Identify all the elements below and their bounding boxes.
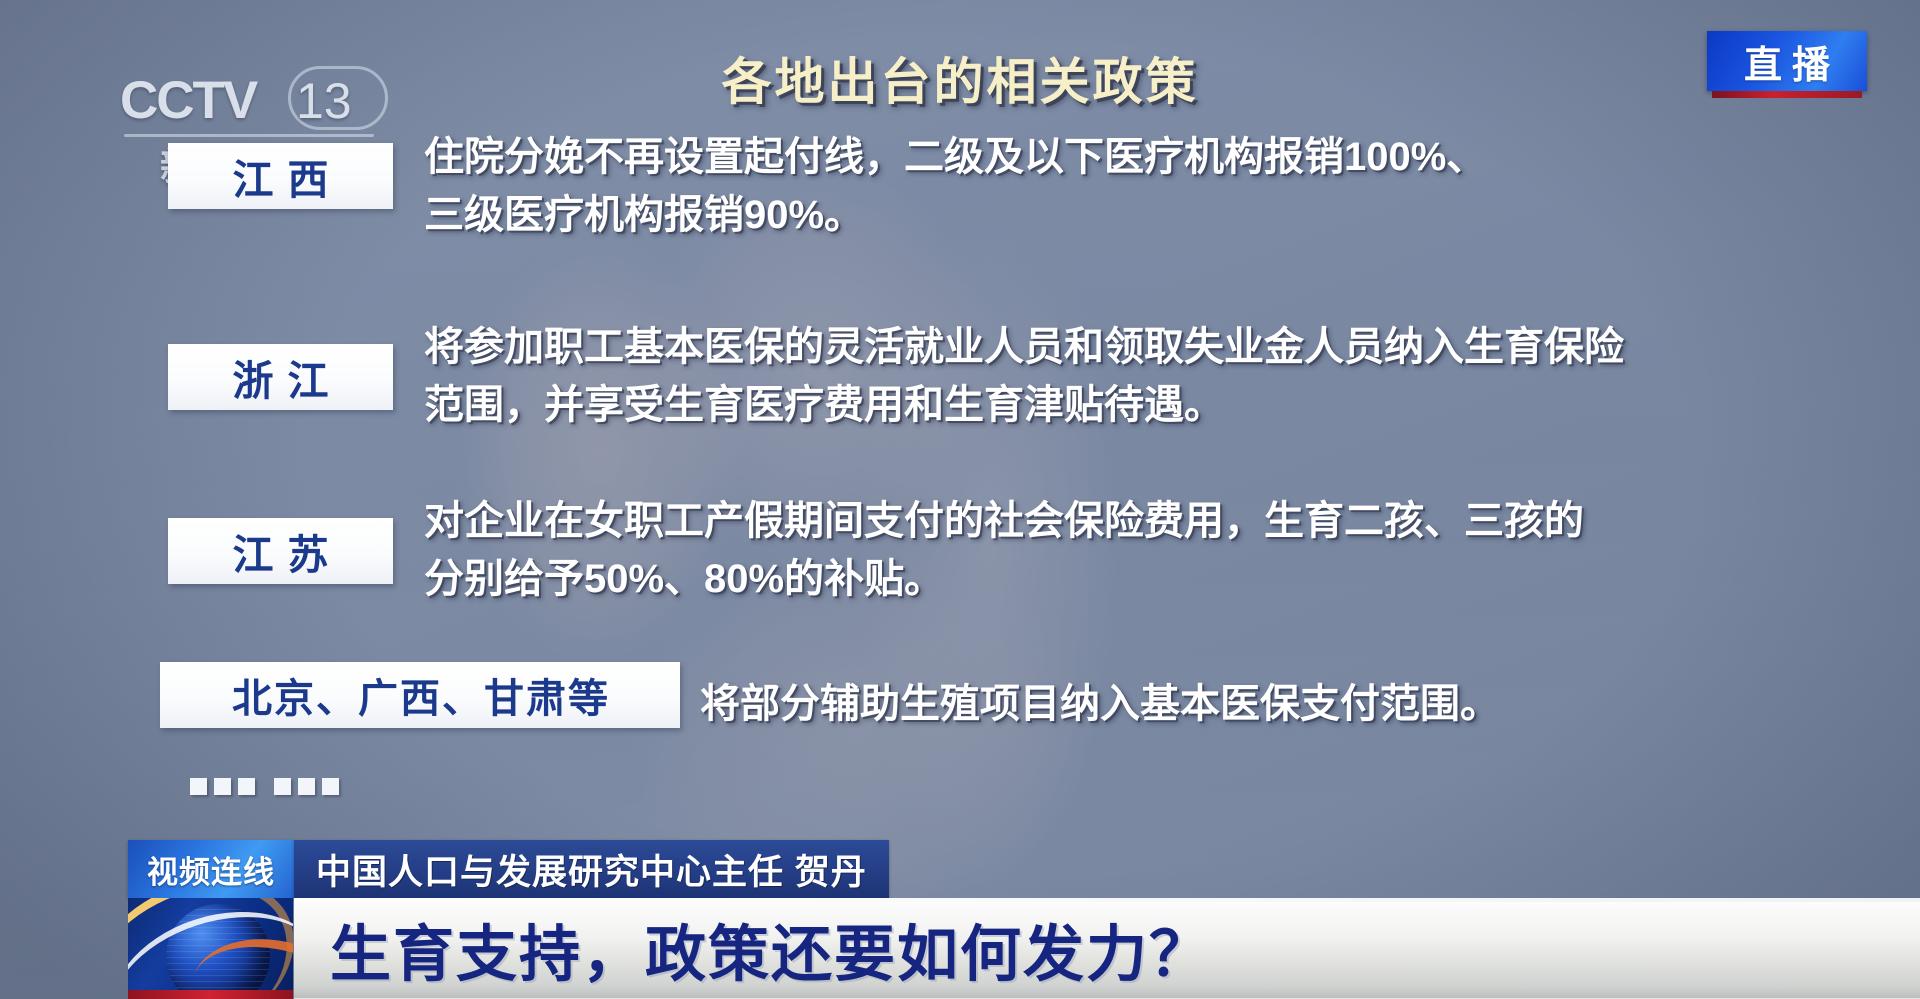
policy-line: 分别给予50%、80%的补贴。 xyxy=(424,550,1584,608)
headline-bar-top-edge xyxy=(294,898,1920,902)
guest-name-label: 中国人口与发展研究中心主任 贺丹 xyxy=(316,844,867,895)
ellipsis-dot xyxy=(274,778,291,795)
province-tag-others: 北京、广西、甘肃等 xyxy=(160,662,680,728)
cctv-news-globe-logo xyxy=(128,898,293,999)
province-tag-label: 北京、广西、甘肃等 xyxy=(230,666,610,724)
video-link-label: 视频连线 xyxy=(147,847,275,892)
province-tag-jiangsu: 江苏 xyxy=(168,518,393,584)
headline-bar: 生育支持，政策还要如何发力？ xyxy=(294,898,1920,999)
policy-line: 范围，并享受生育医疗费用和生育津贴待遇。 xyxy=(424,376,1624,434)
policy-line: 将参加职工基本医保的灵活就业人员和领取失业金人员纳入生育保险 xyxy=(424,318,1624,376)
ellipsis-marker xyxy=(190,778,339,795)
province-tag-jiangxi: 江西 xyxy=(168,143,393,209)
province-tag-zhejiang: 浙江 xyxy=(168,344,393,410)
ellipsis-dot xyxy=(238,778,255,795)
video-link-badge: 视频连线 xyxy=(128,840,294,898)
ellipsis-dot xyxy=(190,778,207,795)
policy-line: 三级医疗机构报销90%。 xyxy=(424,186,1486,244)
broadcast-screen: CCTV 13 新闻 直播 各地出台的相关政策 江西 住院分娩不再设置起付线，二… xyxy=(0,0,1920,999)
headline-text: 生育支持，政策还要如何发力？ xyxy=(330,904,1212,993)
policy-line: 住院分娩不再设置起付线，二级及以下医疗机构报销100%、 xyxy=(424,128,1486,186)
ellipsis-dot xyxy=(322,778,339,795)
province-tag-label: 江苏 xyxy=(219,521,343,581)
policy-text-jiangsu: 对企业在女职工产假期间支付的社会保险费用，生育二孩、三孩的 分别给予50%、80… xyxy=(424,492,1584,608)
policy-text-others: 将部分辅助生殖项目纳入基本医保支付范围。 xyxy=(700,675,1500,733)
policy-text-zhejiang: 将参加职工基本医保的灵活就业人员和领取失业金人员纳入生育保险 范围，并享受生育医… xyxy=(424,318,1624,434)
province-tag-label: 浙江 xyxy=(219,347,343,407)
policy-text-jiangxi: 住院分娩不再设置起付线，二级及以下医疗机构报销100%、 三级医疗机构报销90%… xyxy=(424,128,1486,244)
globe-red-underline xyxy=(128,990,293,999)
province-tag-label: 江西 xyxy=(219,146,343,206)
ellipsis-dot xyxy=(298,778,315,795)
policy-line: 对企业在女职工产假期间支付的社会保险费用，生育二孩、三孩的 xyxy=(424,492,1584,550)
guest-name-bar: 中国人口与发展研究中心主任 贺丹 xyxy=(294,840,889,898)
ellipsis-dot xyxy=(214,778,231,795)
policy-line: 将部分辅助生殖项目纳入基本医保支付范围。 xyxy=(700,675,1500,733)
